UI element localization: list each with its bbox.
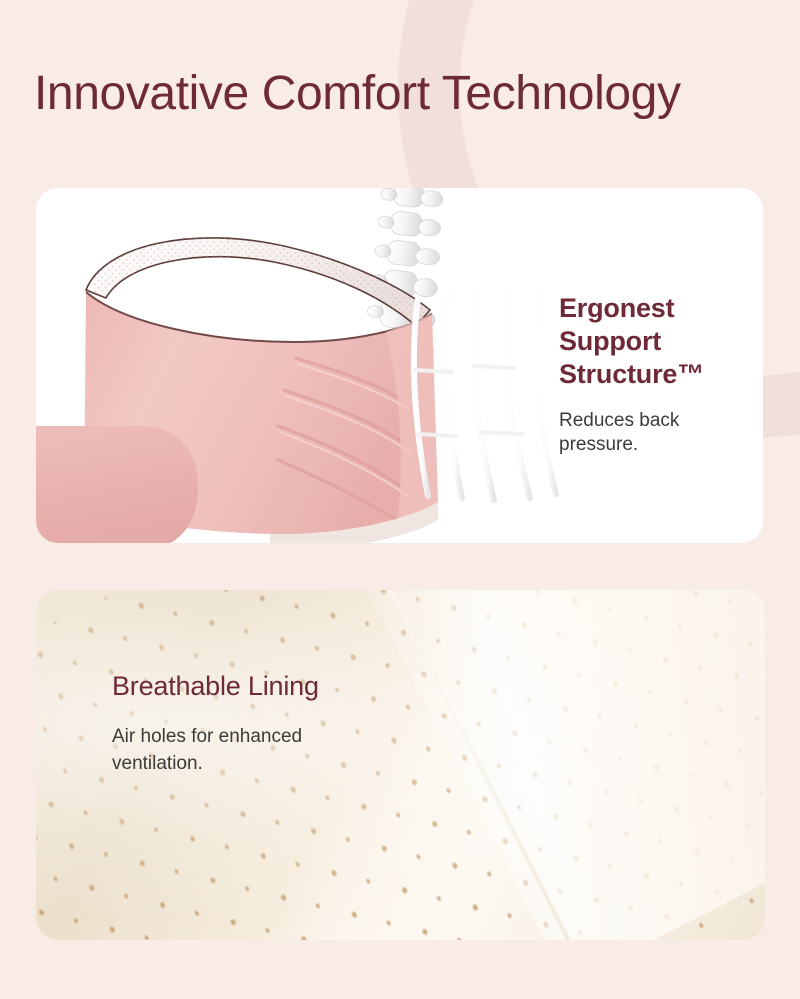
lining-card-text: Breathable Lining Air holes for enhanced… — [112, 668, 352, 777]
support-stays-illustration — [406, 274, 566, 504]
lining-card-heading: Breathable Lining — [112, 668, 352, 705]
promo-page: Innovative Comfort Technology — [0, 0, 800, 999]
lining-card-body: Air holes for enhanced ventilation. — [112, 723, 352, 777]
page-title: Innovative Comfort Technology — [34, 66, 681, 121]
support-card-text: Ergonest Support Structure™ Reduces back… — [559, 292, 759, 457]
ergonest-support-structure-card: Ergonest Support Structure™ Reduces back… — [36, 188, 763, 543]
support-card-heading: Ergonest Support Structure™ — [559, 292, 759, 391]
support-belt-shape — [36, 202, 454, 543]
support-card-body: Reduces back pressure. — [559, 409, 759, 457]
breathable-lining-card: Breathable Lining Air holes for enhanced… — [36, 590, 765, 940]
